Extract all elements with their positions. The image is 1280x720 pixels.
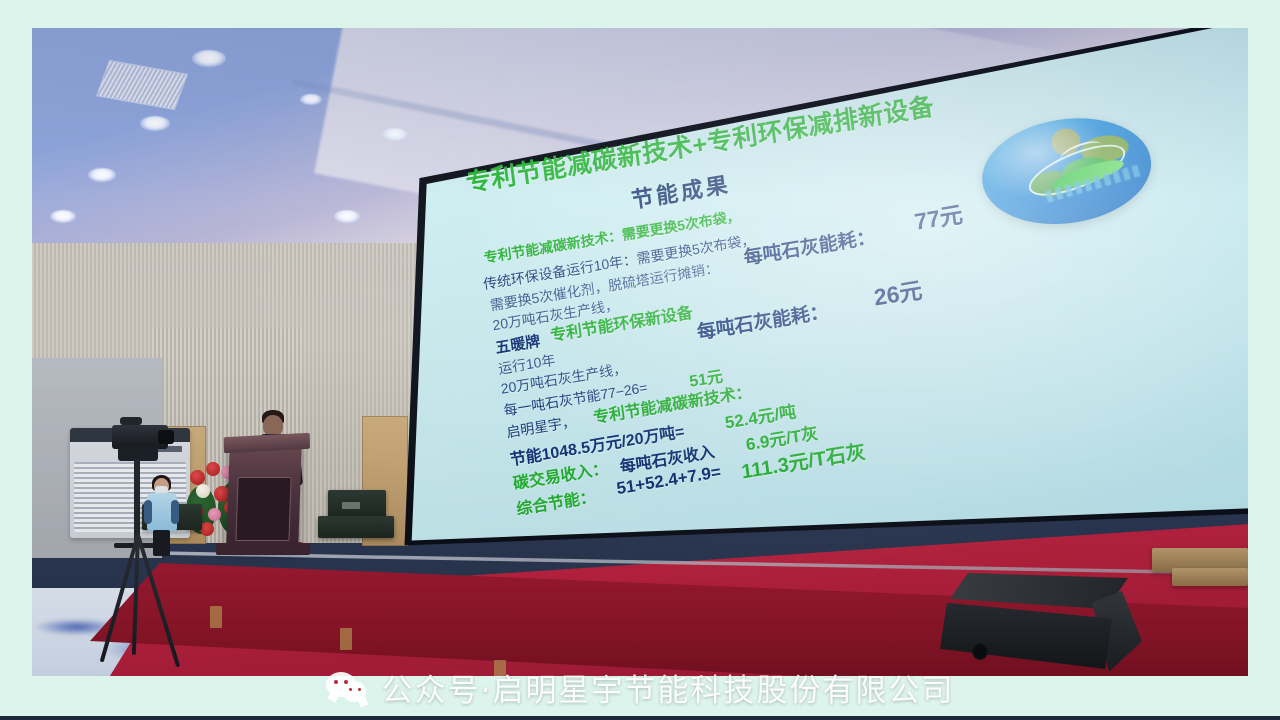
stage-vent (494, 660, 506, 676)
wechat-eye (344, 680, 348, 684)
downlight-icon (140, 116, 170, 131)
attendee-legs (153, 530, 170, 556)
podium-panel (235, 477, 291, 541)
video-camera-tripod (62, 423, 212, 673)
downlight-icon (300, 94, 322, 105)
podium-top (224, 433, 310, 453)
tripod-column (134, 459, 140, 544)
downlight-icon (334, 210, 360, 223)
slide-line: 每吨石灰能耗： (742, 222, 877, 271)
monitor-port-icon (972, 643, 988, 660)
camera-lens-icon (158, 430, 174, 444)
stage-vent (340, 628, 352, 650)
stage-monitor-speaker (932, 573, 1142, 676)
bottom-strip (0, 716, 1280, 720)
stage-crate (1172, 568, 1248, 586)
wechat-bubble-tail (327, 690, 339, 702)
attendee-arm (144, 500, 152, 524)
wechat-eye (349, 688, 352, 691)
attendee (144, 478, 180, 558)
slide-line: 77元 (912, 195, 964, 237)
wechat-eye (334, 680, 338, 684)
led-video-wall: 专利节能减碳新技术+专利环保减排新设备 节能成果 专利节能减碳新技术：需要更换5… (381, 28, 1248, 554)
slide-subheading: 节能成果 (629, 167, 732, 215)
attendee-arm (171, 500, 179, 524)
conference-photo: 专利节能减碳新技术+专利环保减排新设备 节能成果 专利节能减碳新技术：需要更换5… (32, 28, 1248, 676)
wechat-bubble-tail (357, 696, 367, 706)
downlight-icon (88, 168, 116, 182)
equipment-case (318, 516, 394, 538)
monitor-front-face (940, 597, 1112, 669)
image-frame: 专利节能减碳新技术+专利环保减排新设备 节能成果 专利节能减碳新技术：需要更换5… (0, 0, 1280, 720)
equipment-label (342, 502, 360, 509)
camera-microphone-icon (120, 417, 142, 425)
slide-line: 26元 (872, 271, 924, 313)
downlight-icon (50, 210, 76, 223)
wechat-eye (358, 688, 361, 691)
ceiling-vent-icon (96, 60, 188, 110)
wechat-bubble-small (342, 681, 366, 702)
podium-base (216, 543, 310, 555)
podium (226, 443, 302, 548)
slide-line: 每吨石灰能耗： (695, 296, 830, 345)
downlight-icon (192, 50, 226, 67)
